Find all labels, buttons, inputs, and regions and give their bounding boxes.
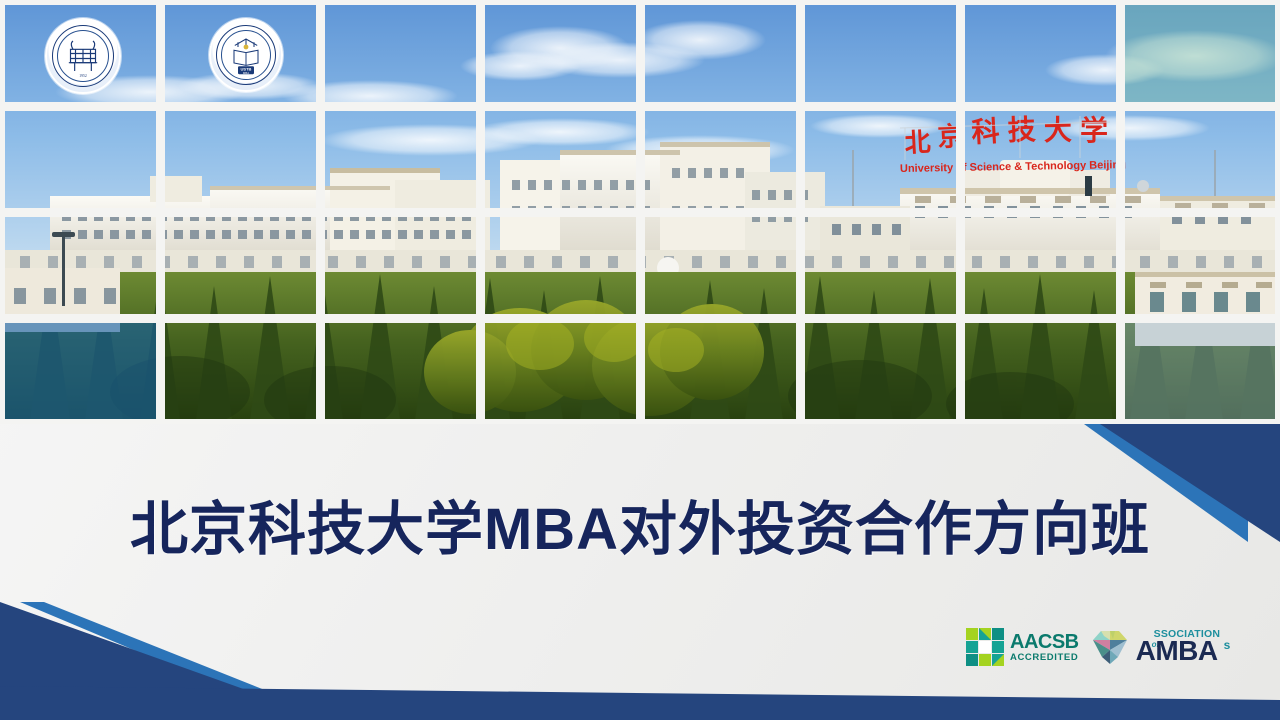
svg-text:技: 技 [1007,114,1036,147]
amba-s-text: s [1224,638,1231,652]
ding-vessel-icon: 1952 [58,30,108,82]
amba-accredited-logo: SSOCIATION of AMBA s [1089,627,1236,667]
svg-text:MBA: MBA [243,71,249,75]
aacsb-pinwheel-mark [965,627,1005,667]
book-shield-icon: USTB MBA [222,30,270,80]
presentation-slide: 北 京 科 技 大 学 University of Science & Tech… [0,0,1280,720]
decor-bottom-navy-band [0,686,1280,720]
aacsb-name: AACSB [1010,632,1079,652]
aacsb-accredited-label: ACCREDITED [1010,653,1079,663]
seal-core: USTB MBA [221,30,271,80]
svg-text:科: 科 [971,116,1001,149]
amba-wordmark: SSOCIATION of AMBA s [1136,627,1236,667]
amba-diamond-mark [1089,627,1131,667]
campus-photo-illustration: 北 京 科 技 大 学 University of Science & Tech… [0,0,1280,424]
amba-main-text: AMBA [1136,635,1218,667]
svg-text:学: 学 [1080,114,1108,147]
ustb-mba-seal: USTB MBA [209,18,283,92]
campus-photo-mosaic: 北 京 科 技 大 学 University of Science & Tech… [0,0,1280,424]
slide-title: 北京科技大学MBA对外投资合作方向班 [0,494,1280,566]
ustb-university-seal: 1952 [45,18,121,94]
aacsb-wordmark: AACSB ACCREDITED [1010,632,1079,663]
seal-core: 1952 [57,30,109,82]
accreditation-logos: AACSB ACCREDITED [965,627,1236,667]
svg-text:1952: 1952 [79,74,87,78]
aacsb-accredited-logo: AACSB ACCREDITED [965,627,1079,667]
svg-text:北: 北 [904,128,931,158]
svg-text:大: 大 [1044,115,1073,147]
